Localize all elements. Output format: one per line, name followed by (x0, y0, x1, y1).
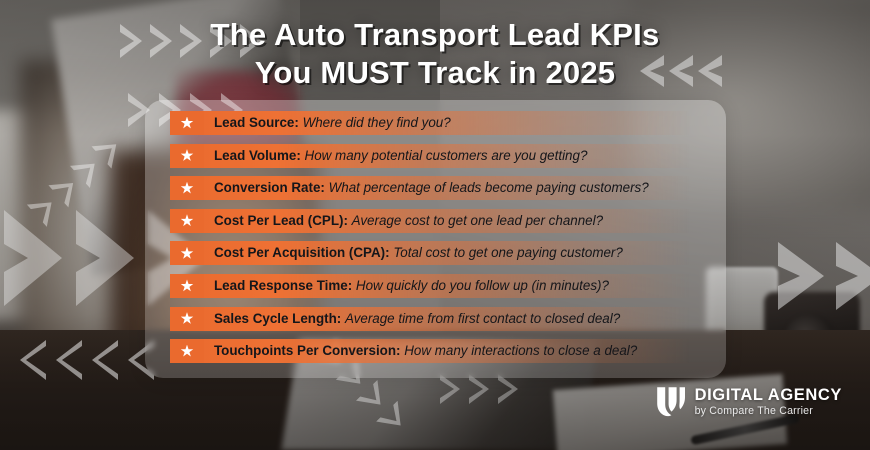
chevron-right-icon (778, 242, 824, 310)
kpi-question: How quickly do you follow up (in minutes… (356, 278, 609, 293)
chevron-group-right (778, 242, 870, 310)
infographic-canvas: The Auto Transport Lead KPIs You MUST Tr… (0, 0, 870, 450)
chevron-group-bottom-left (20, 340, 154, 380)
kpi-row: Lead Volume: How many potential customer… (170, 144, 746, 168)
kpi-row: Sales Cycle Length: Average time from fi… (170, 307, 746, 331)
logo-text-block: DIGITAL AGENCY by Compare The Carrier (695, 387, 842, 417)
star-icon (181, 214, 194, 227)
chevron-right-icon (836, 242, 870, 310)
chevron-left-icon (20, 340, 46, 380)
kpi-list: Lead Source: Where did they find you?Lea… (170, 111, 746, 372)
kpi-question: What percentage of leads become paying c… (329, 180, 649, 195)
chevron-left-icon (92, 340, 118, 380)
kpi-term: Lead Response Time: (214, 278, 352, 293)
star-icon (181, 312, 194, 325)
kpi-row-text: Cost Per Acquisition (CPA): Total cost t… (214, 241, 623, 265)
star-badge (170, 274, 204, 298)
chevron-right-icon (4, 210, 62, 306)
kpi-row: Conversion Rate: What percentage of lead… (170, 176, 746, 200)
kpi-row: Lead Response Time: How quickly do you f… (170, 274, 746, 298)
chevron-right-icon (498, 374, 518, 404)
kpi-question: Average cost to get one lead per channel… (352, 213, 603, 228)
kpi-term: Cost Per Lead (CPL): (214, 213, 348, 228)
kpi-row: Lead Source: Where did they find you? (170, 111, 746, 135)
kpi-term: Conversion Rate: (214, 180, 325, 195)
chevron-right-icon (76, 210, 134, 306)
kpi-question: Total cost to get one paying customer? (393, 245, 623, 260)
star-badge (170, 176, 204, 200)
chevron-right-icon (440, 374, 460, 404)
shield-checkmark-icon (656, 386, 686, 418)
star-badge (170, 241, 204, 265)
chevron-right-icon (469, 374, 489, 404)
star-icon (181, 182, 194, 195)
kpi-question: Where did they find you? (303, 115, 451, 130)
kpi-term: Lead Source: (214, 115, 299, 130)
kpi-question: Average time from first contact to close… (345, 311, 620, 326)
kpi-term: Lead Volume: (214, 148, 301, 163)
kpi-question: How many potential customers are you get… (305, 148, 588, 163)
page-title-line-2: You MUST Track in 2025 (0, 54, 870, 92)
logo-subtitle: by Compare The Carrier (695, 406, 842, 417)
kpi-term: Cost Per Acquisition (CPA): (214, 245, 390, 260)
kpi-row-text: Lead Volume: How many potential customer… (214, 144, 587, 168)
star-badge (170, 144, 204, 168)
star-icon (181, 117, 194, 130)
chevron-group-bottom-center (440, 374, 518, 404)
kpi-row: Cost Per Lead (CPL): Average cost to get… (170, 209, 746, 233)
star-badge (170, 111, 204, 135)
kpi-row-text: Lead Source: Where did they find you? (214, 111, 451, 135)
star-badge (170, 307, 204, 331)
kpi-term: Touchpoints Per Conversion: (214, 343, 401, 358)
logo-title: DIGITAL AGENCY (695, 387, 842, 404)
brand-logo[interactable]: DIGITAL AGENCY by Compare The Carrier (656, 386, 842, 418)
star-icon (181, 247, 194, 260)
kpi-row: Touchpoints Per Conversion: How many int… (170, 339, 746, 363)
star-badge (170, 209, 204, 233)
chevron-right-icon (128, 93, 150, 127)
page-title-line-1: The Auto Transport Lead KPIs (0, 16, 870, 54)
star-badge (170, 339, 204, 363)
star-icon (181, 345, 194, 358)
kpi-term: Sales Cycle Length: (214, 311, 341, 326)
kpi-row-text: Sales Cycle Length: Average time from fi… (214, 307, 620, 331)
star-icon (181, 279, 194, 292)
page-title: The Auto Transport Lead KPIs You MUST Tr… (0, 16, 870, 92)
kpi-row-text: Lead Response Time: How quickly do you f… (214, 274, 609, 298)
kpi-question: How many interactions to close a deal? (404, 343, 637, 358)
kpi-row-text: Conversion Rate: What percentage of lead… (214, 176, 649, 200)
kpi-row: Cost Per Acquisition (CPA): Total cost t… (170, 241, 746, 265)
chevron-left-icon (56, 340, 82, 380)
kpi-row-text: Cost Per Lead (CPL): Average cost to get… (214, 209, 603, 233)
kpi-row-text: Touchpoints Per Conversion: How many int… (214, 339, 637, 363)
star-icon (181, 149, 194, 162)
